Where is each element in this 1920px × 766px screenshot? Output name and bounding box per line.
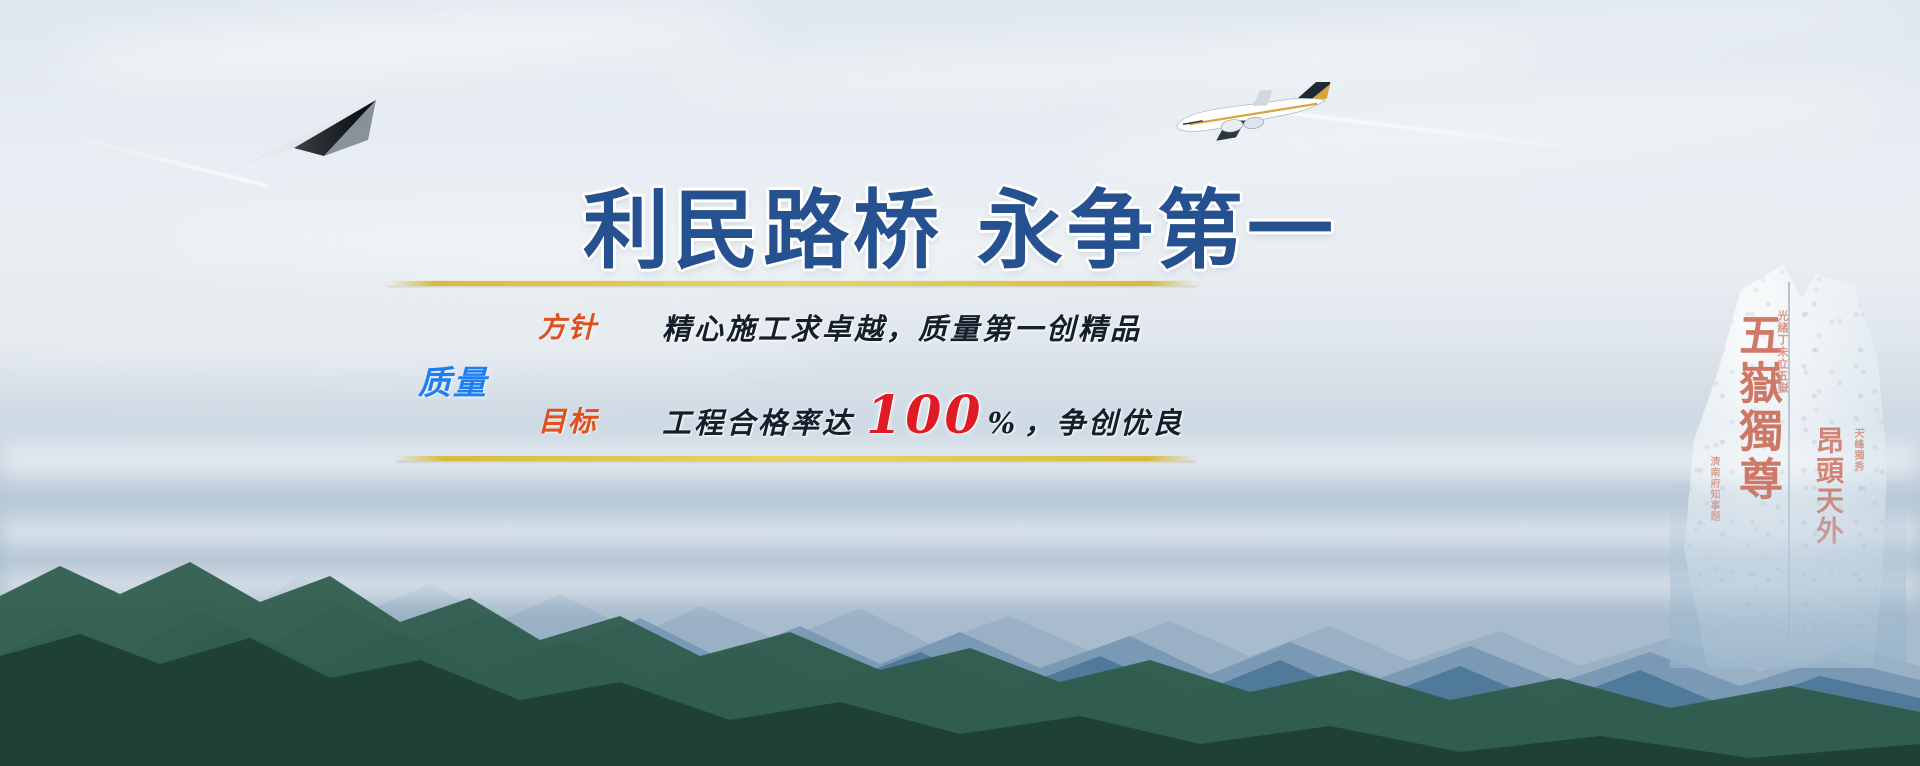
goal-text-after: ，争创优良	[1024, 400, 1184, 442]
gold-divider-bottom	[396, 456, 1196, 461]
title-right: 永争第一	[977, 181, 1337, 281]
title-left: 利民路桥	[583, 181, 943, 281]
page-title: 利民路桥永争第一	[0, 188, 1920, 274]
gold-divider-top	[386, 281, 1198, 286]
quality-label: 质量	[418, 356, 488, 404]
goal-slogan-text: 工程合格率达 100 % ，争创优良	[662, 398, 1184, 442]
policy-label: 方针	[538, 306, 598, 346]
policy-slogan-text: 精心施工求卓越，质量第一创精品	[662, 306, 1142, 348]
hero-banner: 五嶽獨尊 昂頭天外 光緒丁未立五嶽 天峰獨秀 濟南府知事題 利民路桥永争第一 质…	[0, 0, 1920, 766]
banner-content: 利民路桥永争第一 质量 方针 精心施工求卓越，质量第一创精品 目标 工程合格率达…	[0, 0, 1920, 766]
goal-highlight-number: 100	[866, 398, 984, 434]
goal-label: 目标	[538, 400, 598, 440]
goal-percent-sign: %	[988, 406, 1019, 440]
goal-text-before: 工程合格率达	[662, 400, 854, 442]
